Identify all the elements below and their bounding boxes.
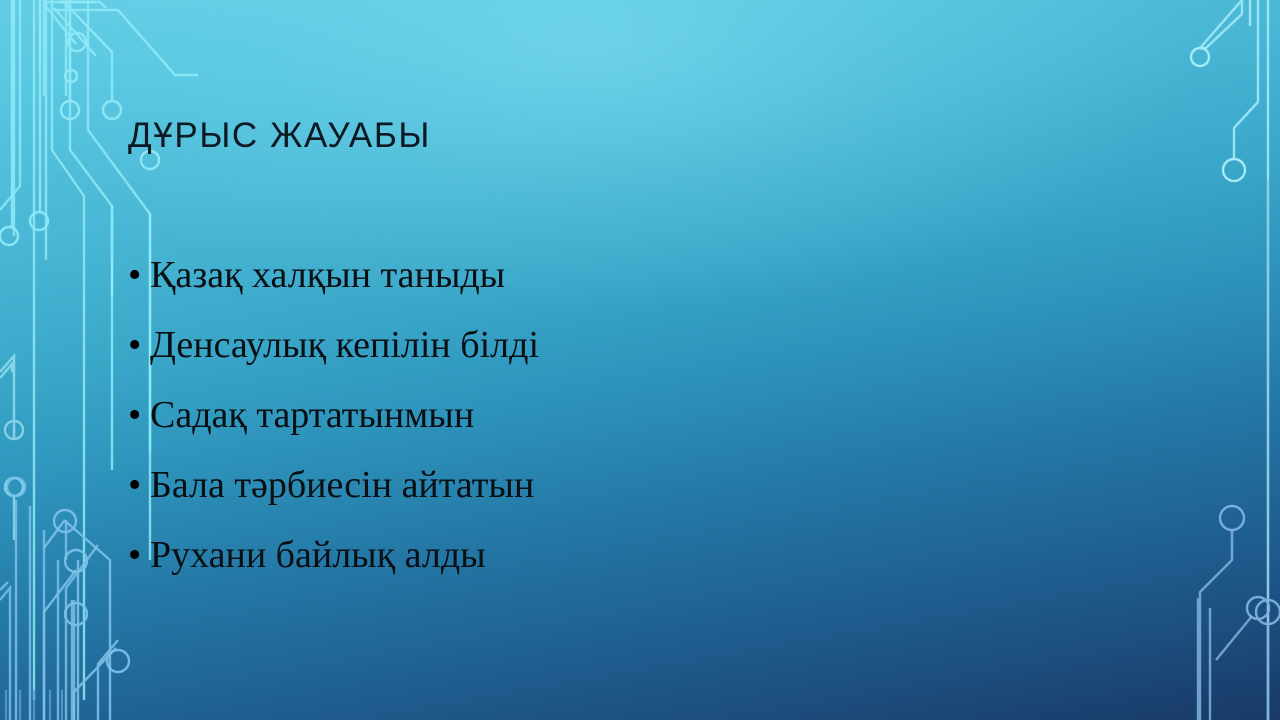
bullet-point-icon: • (128, 450, 150, 520)
list-item-label: Қазақ халқын таныды (150, 240, 505, 310)
list-item-label: Садақ тартатынмын (150, 380, 474, 450)
list-item-label: Денсаулық кепілін білді (150, 310, 539, 380)
bullet-point-icon: • (128, 240, 150, 310)
list-item: • Қазақ халқын таныды (128, 240, 1138, 310)
page-title: ДҰРЫС ЖАУАБЫ (128, 116, 1128, 156)
list-item-label: Бала тәрбиесін айтатын (150, 450, 534, 520)
bullet-point-icon: • (128, 310, 150, 380)
slide-content: ДҰРЫС ЖАУАБЫ • Қазақ халқын таныды • Ден… (0, 0, 1280, 720)
list-item-label: Рухани байлық алды (150, 520, 486, 590)
answer-bullet-list: • Қазақ халқын таныды • Денсаулық кепілі… (128, 240, 1138, 590)
bullet-point-icon: • (128, 520, 150, 590)
list-item: • Бала тәрбиесін айтатын (128, 450, 1138, 520)
list-item: • Денсаулық кепілін білді (128, 310, 1138, 380)
list-item: • Рухани байлық алды (128, 520, 1138, 590)
presentation-slide: ДҰРЫС ЖАУАБЫ • Қазақ халқын таныды • Ден… (0, 0, 1280, 720)
bullet-point-icon: • (128, 380, 150, 450)
list-item: • Садақ тартатынмын (128, 380, 1138, 450)
